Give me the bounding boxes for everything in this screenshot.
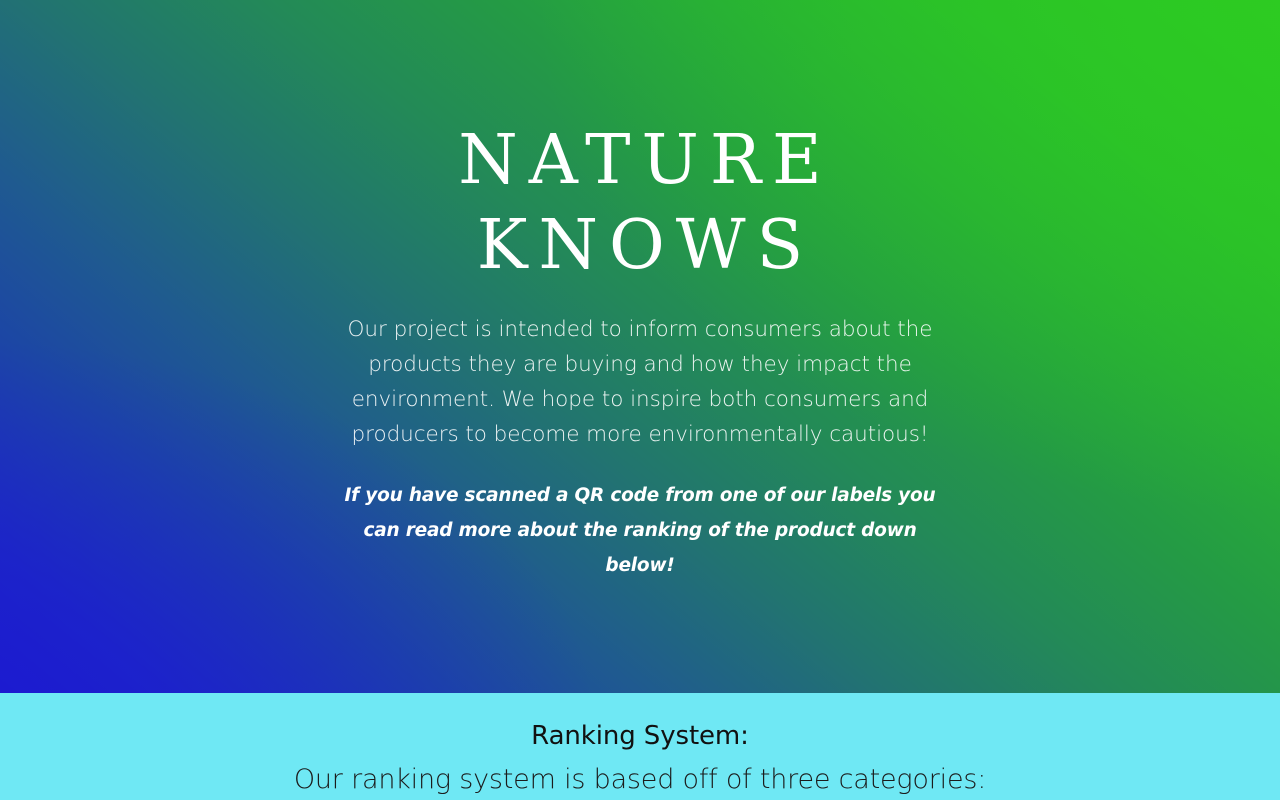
ranking-system-subtitle: Our ranking system is based off of three… <box>0 763 1280 797</box>
page-title: NATURE KNOWS <box>0 118 1280 288</box>
hero-section: NATURE KNOWS Our project is intended to … <box>0 0 1280 693</box>
ranking-system-section: Ranking System: Our ranking system is ba… <box>0 693 1280 800</box>
intro-paragraph: Our project is intended to inform consum… <box>335 312 945 452</box>
page-root: NATURE KNOWS Our project is intended to … <box>0 0 1280 800</box>
ranking-system-heading: Ranking System: <box>0 720 1280 752</box>
page-title-line-1: NATURE <box>0 118 1280 203</box>
qr-code-note: If you have scanned a QR code from one o… <box>340 478 940 583</box>
hero-content: NATURE KNOWS Our project is intended to … <box>0 0 1280 583</box>
page-title-line-2: KNOWS <box>0 203 1280 288</box>
